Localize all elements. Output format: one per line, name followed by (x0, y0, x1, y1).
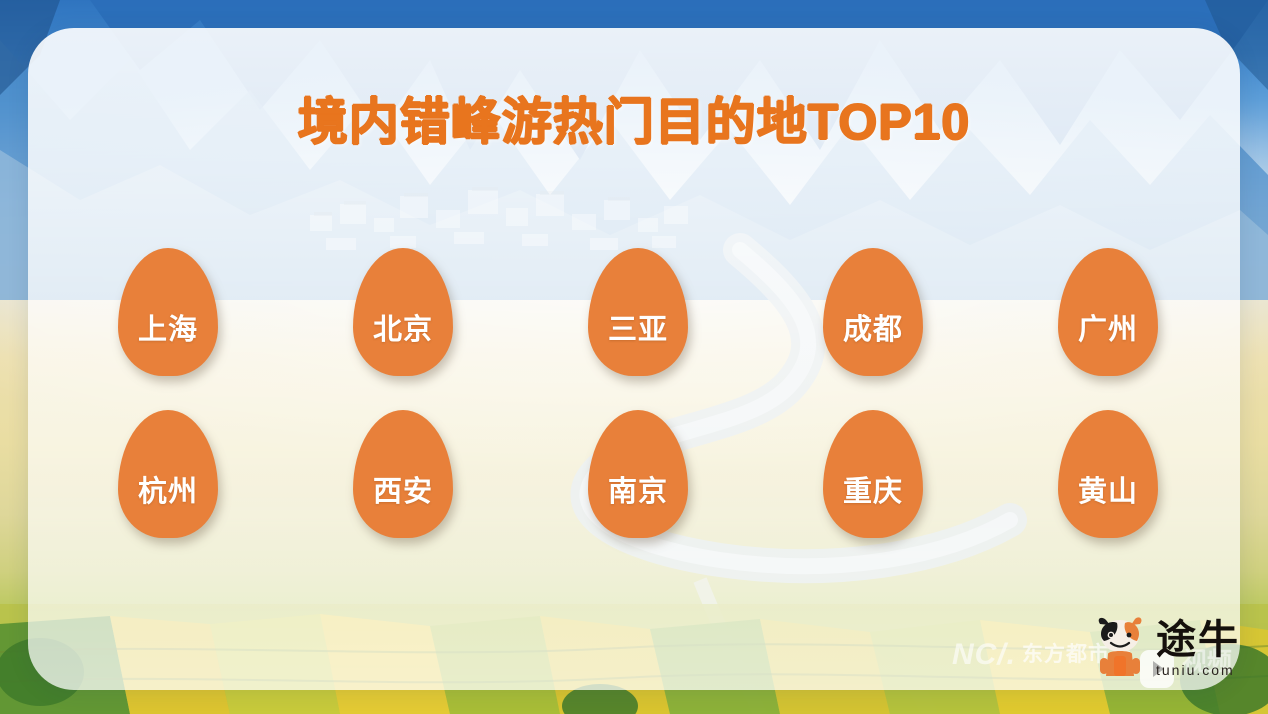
destination-grid: 上海 北京 三亚 成都 广州 杭州 (118, 248, 1158, 538)
brand-url: tuniu.com (1156, 662, 1235, 678)
brand-logo[interactable]: 途牛 tuniu.com (1092, 614, 1240, 678)
destination-label: 上海 (118, 306, 218, 348)
destination-label: 西安 (353, 468, 453, 510)
destination-badge[interactable]: 北京 (353, 248, 453, 376)
brand-name: 途牛 (1156, 621, 1240, 659)
destination-row-2: 杭州 西安 南京 重庆 黄山 (118, 410, 1158, 538)
destination-label: 杭州 (118, 468, 218, 510)
cow-mascot-icon (1092, 614, 1148, 678)
destination-row-1: 上海 北京 三亚 成都 广州 (118, 248, 1158, 376)
page-title: 境内错峰游热门目的地TOP10 (0, 82, 1268, 154)
destination-label: 广州 (1058, 306, 1158, 348)
destination-badge[interactable]: 广州 (1058, 248, 1158, 376)
destination-badge[interactable]: 黄山 (1058, 410, 1158, 538)
destination-badge[interactable]: 上海 (118, 248, 218, 376)
destination-badge[interactable]: 成都 (823, 248, 923, 376)
destination-label: 南京 (588, 468, 688, 510)
brand-text-block: 途牛 tuniu.com (1156, 621, 1240, 678)
destination-label: 重庆 (823, 468, 923, 510)
poster-canvas: 境内错峰游热门目的地TOP10 上海 北京 三亚 成都 广州 (0, 0, 1268, 714)
destination-label: 黄山 (1058, 468, 1158, 510)
destination-badge[interactable]: 杭州 (118, 410, 218, 538)
destination-badge[interactable]: 重庆 (823, 410, 923, 538)
destination-label: 三亚 (588, 306, 688, 348)
destination-label: 成都 (823, 306, 923, 348)
destination-badge[interactable]: 西安 (353, 410, 453, 538)
destination-label: 北京 (353, 306, 453, 348)
destination-badge[interactable]: 三亚 (588, 248, 688, 376)
destination-badge[interactable]: 南京 (588, 410, 688, 538)
